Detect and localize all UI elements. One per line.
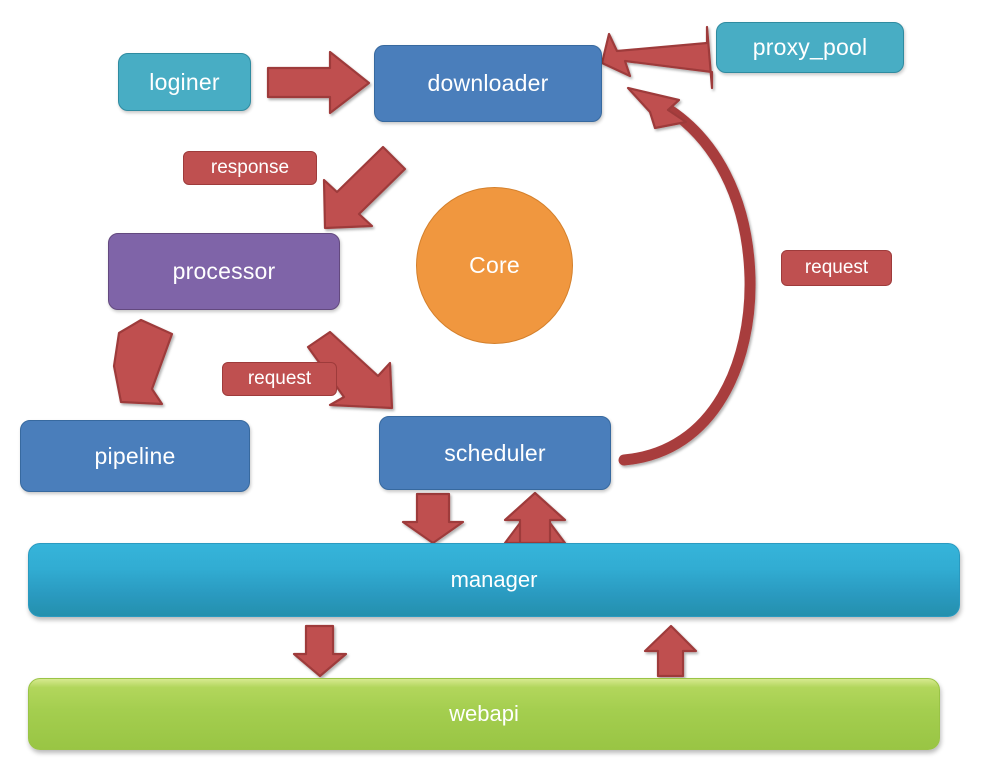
arrow-webapi-to-manager: [645, 626, 696, 676]
node-scheduler-label: scheduler: [444, 440, 546, 467]
node-core-label: Core: [469, 252, 520, 279]
node-loginer[interactable]: loginer: [118, 53, 251, 111]
edge-label-response: response: [183, 151, 317, 185]
node-proxy-pool-label: proxy_pool: [753, 34, 868, 61]
edge-label-response-text: response: [211, 157, 289, 179]
edge-label-request-right-text: request: [805, 257, 868, 279]
node-core[interactable]: Core: [416, 187, 573, 344]
node-loginer-label: loginer: [149, 69, 219, 96]
node-webapi-label: webapi: [449, 701, 519, 727]
node-downloader-label: downloader: [428, 70, 549, 97]
node-processor-label: processor: [173, 258, 276, 285]
node-processor[interactable]: processor: [108, 233, 340, 310]
arrow-manager-to-webapi: [294, 626, 346, 676]
arrow-proxy-pool-to-downloader: [602, 27, 712, 88]
node-pipeline-label: pipeline: [95, 443, 176, 470]
arrow-processor-to-pipeline: [114, 320, 172, 404]
node-downloader[interactable]: downloader: [374, 45, 602, 122]
arrow-scheduler-to-manager: [403, 494, 463, 543]
node-scheduler[interactable]: scheduler: [379, 416, 611, 490]
node-proxy-pool[interactable]: proxy_pool: [716, 22, 904, 73]
edge-label-request-right: request: [781, 250, 892, 286]
arrow-loginer-to-downloader: [268, 52, 369, 113]
node-manager-label: manager: [451, 567, 538, 593]
node-pipeline[interactable]: pipeline: [20, 420, 250, 492]
node-manager[interactable]: manager: [28, 543, 960, 617]
edge-label-request-middle-text: request: [248, 368, 311, 390]
edge-label-request-middle: request: [222, 362, 337, 396]
node-webapi[interactable]: webapi: [28, 678, 940, 750]
arrow-scheduler-to-downloader-curve: [624, 88, 750, 460]
arrow-manager-to-scheduler: [505, 493, 565, 543]
architecture-diagram-canvas: loginer downloader proxy_pool processor …: [0, 0, 988, 761]
arrow-downloader-to-processor: [324, 147, 405, 228]
